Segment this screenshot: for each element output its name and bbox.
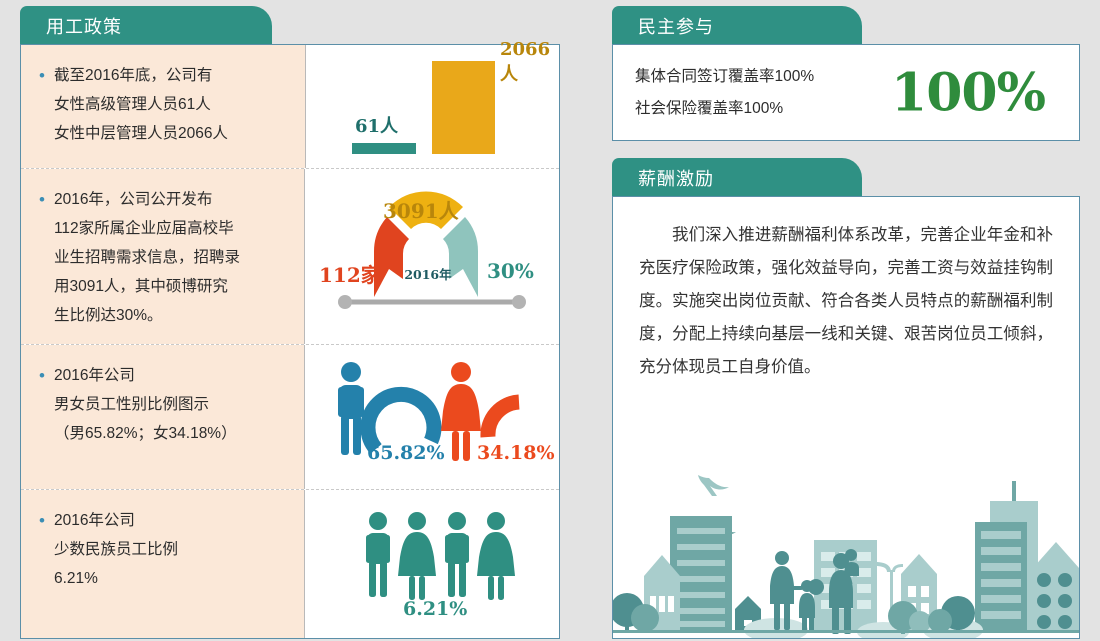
- building-tower-tall: [975, 481, 1038, 630]
- policy-row-2-text: 2016年，公司公开发布 112家所属企业应届高校毕 业生招聘需求信息，招聘录 …: [54, 185, 240, 330]
- employment-policy-card: • 截至2016年底，公司有 女性高级管理人员61人 女性中层管理人员2066人…: [20, 44, 560, 639]
- tab-employment-policy[interactable]: 用工政策: [20, 6, 272, 46]
- minority-male-figure-1: [366, 512, 390, 597]
- policy-row-1-text-cell: • 截至2016年底，公司有 女性高级管理人员61人 女性中层管理人员2066人: [21, 45, 306, 168]
- minority-pictogram-chart: 6.21%: [305, 490, 559, 638]
- policy-row-female-managers: • 截至2016年底，公司有 女性高级管理人员61人 女性中层管理人员2066人…: [21, 45, 559, 169]
- bird-icon-large: [698, 475, 729, 496]
- policy-row-minority: • 2016年公司 少数民族员工比例 6.21%: [21, 490, 559, 638]
- salary-incentive-body: 我们深入推进薪酬福利体系改革，完善企业年金和补充医疗保险政策，强化效益导向，完善…: [639, 219, 1053, 384]
- ground-line: [613, 630, 1079, 633]
- democratic-participation-lines: 集体合同签订覆盖率100% 社会保险覆盖率100%: [635, 61, 814, 125]
- coverage-rate-value: 100%: [891, 62, 1045, 123]
- policy-row-2-text-cell: • 2016年，公司公开发布 112家所属企业应届高校毕 业生招聘需求信息，招聘…: [21, 169, 305, 344]
- female-arc: [488, 402, 519, 437]
- male-arc: [368, 394, 434, 449]
- gauge-segment-postgrad: [443, 217, 478, 297]
- bullet-icon: •: [39, 67, 45, 84]
- infographic-page: 用工政策 • 截至2016年底，公司有 女性高级管理人员61人 女性中层管理人员…: [0, 0, 1100, 636]
- salary-incentive-card: 我们深入推进薪酬福利体系改革，完善企业年金和补充医疗保险政策，强化效益导向，完善…: [612, 196, 1080, 639]
- male-percent-label: 65.82%: [367, 442, 445, 464]
- policy-row-1-text: 截至2016年底，公司有 女性高级管理人员61人 女性中层管理人员2066人: [54, 61, 228, 148]
- minority-male-figure-2: [445, 512, 469, 597]
- gauge-label-hired: 3091人: [383, 195, 459, 224]
- bar-label-middle-managers: 2066人: [500, 39, 559, 86]
- bullet-icon: •: [39, 367, 45, 384]
- policy-row-recruitment: • 2016年，公司公开发布 112家所属企业应届高校毕 业生招聘需求信息，招聘…: [21, 169, 559, 345]
- gauge-label-postgrad: 30%: [487, 259, 534, 283]
- cityscape-illustration: [613, 458, 1079, 638]
- gauge-endpoint-left: [338, 295, 352, 309]
- policy-row-4-text-cell: • 2016年公司 少数民族员工比例 6.21%: [21, 490, 305, 638]
- tab-salary-incentive-label: 薪酬激励: [638, 165, 714, 191]
- female-managers-bar-chart: 61人 2066人: [306, 45, 559, 168]
- gauge-endpoint-right: [512, 295, 526, 309]
- tab-employment-policy-label: 用工政策: [46, 13, 122, 39]
- tab-salary-incentive[interactable]: 薪酬激励: [612, 158, 862, 198]
- recruitment-gauge-chart: 2016年 112家 3091人 30%: [305, 169, 559, 344]
- minority-female-figure-1: [398, 512, 436, 600]
- policy-row-gender-ratio: • 2016年公司 男女员工性别比例图示 （男65.82%；女34.18%）: [21, 345, 559, 490]
- policy-row-3-text-cell: • 2016年公司 男女员工性别比例图示 （男65.82%；女34.18%）: [21, 345, 305, 489]
- minority-percent-label: 6.21%: [403, 598, 467, 620]
- policy-row-4-text: 2016年公司 少数民族员工比例 6.21%: [54, 506, 178, 593]
- male-figure-icon: [338, 362, 364, 455]
- bullet-icon: •: [39, 512, 45, 529]
- policy-row-3-text: 2016年公司 男女员工性别比例图示 （男65.82%；女34.18%）: [54, 361, 237, 448]
- bar-middle-managers: [432, 61, 495, 154]
- bar-label-senior-managers: 61人: [355, 112, 398, 138]
- bullet-icon: •: [39, 191, 45, 208]
- gender-ratio-chart: 65.82% 34.18%: [305, 345, 559, 489]
- tab-democratic-participation-label: 民主参与: [638, 13, 714, 39]
- minority-female-figure-2: [477, 512, 515, 600]
- building-gabled-circles: [1033, 542, 1079, 630]
- female-percent-label: 34.18%: [477, 442, 555, 464]
- female-figure-icon: [441, 362, 481, 461]
- gauge-label-companies: 112家: [319, 259, 381, 288]
- tab-democratic-participation[interactable]: 民主参与: [612, 6, 862, 46]
- democratic-participation-card: 集体合同签订覆盖率100% 社会保险覆盖率100% 100%: [612, 44, 1080, 141]
- bar-senior-managers: [352, 143, 416, 154]
- gender-svg: [305, 345, 559, 488]
